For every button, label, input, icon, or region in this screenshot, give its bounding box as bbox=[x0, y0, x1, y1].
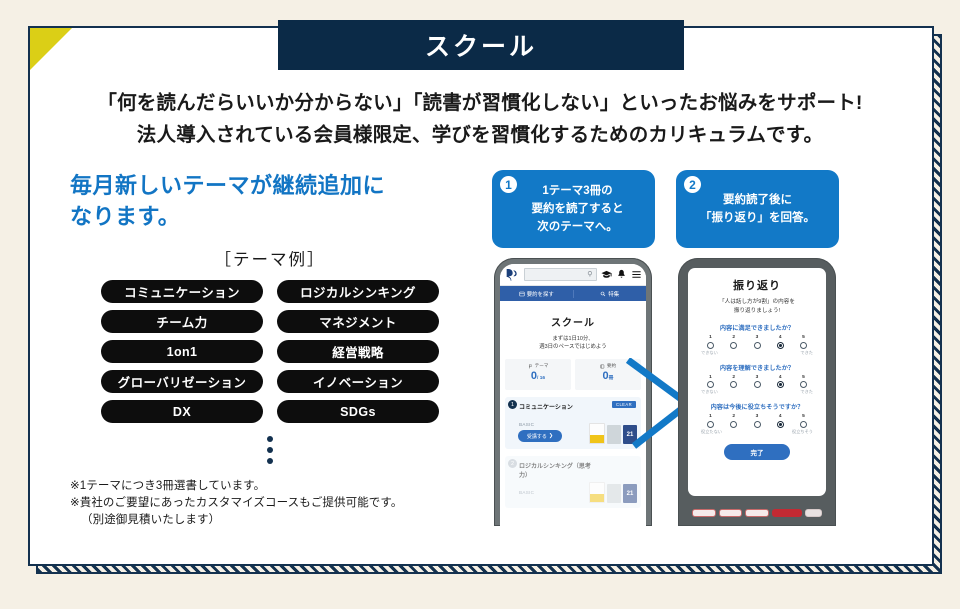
course-number: 2 bbox=[508, 459, 517, 468]
keyboard-key[interactable] bbox=[692, 509, 716, 517]
keyboard-suggestion-bar bbox=[692, 508, 822, 517]
radio-button[interactable] bbox=[707, 421, 714, 428]
survey-subtitle: 「人は話し方が9割」の内容を 振り返りましょう! bbox=[695, 298, 819, 316]
stat-summary-suffix: 冊 bbox=[609, 376, 614, 381]
vertical-ellipsis-icon bbox=[266, 436, 274, 464]
stat-theme-value-row: 0/ 16 bbox=[505, 370, 571, 385]
rating-option[interactable]: 5 bbox=[798, 335, 809, 349]
search-icon bbox=[600, 291, 606, 297]
footnotes: ※1テーマにつき3冊選書しています。 ※貴社のご要望にあったカスタマイズコースも… bbox=[70, 478, 470, 529]
course-name: ロジカルシンキング（思考力） bbox=[519, 463, 591, 480]
book-cover: 21 bbox=[623, 484, 637, 503]
rating-option[interactable]: 5 bbox=[798, 375, 809, 389]
left-column: 毎月新しいテーマが継続追加に なります。 ［テーマ例］ コミュニケーション ロジ… bbox=[70, 170, 470, 529]
radio-button[interactable] bbox=[707, 381, 714, 388]
question-text: 内容を理解できましたか？ bbox=[695, 363, 819, 372]
rating-number: 4 bbox=[775, 414, 786, 419]
radio-button-selected[interactable] bbox=[777, 342, 784, 349]
radio-button[interactable] bbox=[730, 342, 737, 349]
book-cover bbox=[589, 423, 605, 444]
app-page-title: スクール bbox=[500, 314, 646, 329]
callout-bubble-2: 2 要約読了後に 「振り返り」を回答。 bbox=[676, 170, 839, 248]
callout-2-line-1: 要約読了後に bbox=[686, 191, 829, 209]
theme-pill[interactable]: 1on1 bbox=[101, 340, 263, 363]
rating-number: 1 bbox=[705, 335, 716, 340]
scale-end-labels: 役立たない 役立ちそう bbox=[695, 429, 819, 435]
theme-pill[interactable]: SDGs bbox=[277, 400, 439, 423]
rating-number: 4 bbox=[775, 335, 786, 340]
slide-canvas: スクール 「何を読んだらいいか分からない」「読書が習慣化しない」といったお悩みを… bbox=[0, 0, 960, 609]
enroll-button[interactable]: 受講する ❯ bbox=[518, 430, 562, 442]
graduation-cap-icon[interactable] bbox=[601, 269, 612, 280]
rating-number: 5 bbox=[798, 414, 809, 419]
rating-number: 3 bbox=[752, 335, 763, 340]
rating-number: 1 bbox=[705, 414, 716, 419]
phone-mockup-right: 振り返り 「人は話し方が9割」の内容を 振り返りましょう! 内容に満足できました… bbox=[678, 258, 836, 526]
hamburger-menu-icon[interactable] bbox=[631, 269, 642, 280]
theme-pill[interactable]: チーム力 bbox=[101, 310, 263, 333]
book-icon bbox=[519, 291, 525, 297]
radio-button[interactable] bbox=[800, 381, 807, 388]
footnote-3: （別途御見積いたします） bbox=[70, 512, 470, 529]
rating-option[interactable]: 1 bbox=[705, 375, 716, 389]
stat-theme-label: テーマ bbox=[535, 363, 549, 369]
rating-option[interactable]: 3 bbox=[752, 375, 763, 389]
chevron-right-icon: ❯ bbox=[549, 433, 553, 439]
reflection-survey-sheet: 振り返り 「人は話し方が9割」の内容を 振り返りましょう! 内容に満足できました… bbox=[688, 268, 826, 496]
footnote-1: ※1テーマにつき3冊選書しています。 bbox=[70, 478, 470, 495]
theme-pill[interactable]: DX bbox=[101, 400, 263, 423]
scale-low-label: できない bbox=[701, 350, 718, 356]
app-logo-icon bbox=[504, 267, 520, 283]
scale-low-label: 役立たない bbox=[701, 429, 722, 435]
app-subtitle-line-2: 週3日のペースではじめよう bbox=[500, 343, 646, 351]
rating-scale: 1 2 3 4 5 bbox=[695, 414, 819, 428]
radio-button[interactable] bbox=[730, 381, 737, 388]
rating-number: 5 bbox=[798, 335, 809, 340]
rating-number: 3 bbox=[752, 375, 763, 380]
theme-pill[interactable]: 経営戦略 bbox=[277, 340, 439, 363]
scale-high-label: できた bbox=[800, 389, 813, 395]
radio-button[interactable] bbox=[754, 342, 761, 349]
rating-option[interactable]: 5 bbox=[798, 414, 809, 428]
rating-option[interactable]: 4 bbox=[775, 414, 786, 428]
callout-2-line-2: 「振り返り」を回答。 bbox=[686, 209, 829, 227]
enroll-button-label: 受講する bbox=[527, 433, 547, 440]
theme-pill[interactable]: イノベーション bbox=[277, 370, 439, 393]
survey-title: 振り返り bbox=[695, 277, 819, 293]
stat-card-themes: テーマ 0/ 16 bbox=[505, 359, 571, 390]
rating-number: 3 bbox=[752, 414, 763, 419]
scale-high-label: できた bbox=[800, 350, 813, 356]
footnote-2: ※貴社のご要望にあったカスタマイズコースもご提供可能です。 bbox=[70, 495, 470, 512]
course-number: 1 bbox=[508, 400, 517, 409]
rating-option[interactable]: 2 bbox=[728, 375, 739, 389]
callout-2-text: 要約読了後に 「振り返り」を回答。 bbox=[676, 191, 839, 227]
keyboard-key[interactable] bbox=[805, 509, 822, 517]
radio-button[interactable] bbox=[707, 342, 714, 349]
survey-subtitle-line-1: 「人は話し方が9割」の内容を bbox=[695, 298, 819, 307]
lead-copy: 「何を読んだらいいか分からない」「読書が習慣化しない」といったお悩みをサポート!… bbox=[28, 88, 932, 150]
book-cover bbox=[589, 482, 605, 503]
page-title-banner: スクール bbox=[278, 20, 684, 70]
course-name: コミュニケーション bbox=[519, 404, 591, 413]
theme-pill-grid: コミュニケーション ロジカルシンキング チーム力 マネジメント 1on1 経営戦… bbox=[70, 280, 470, 423]
lead-line-2: 法人導入されている会員様限定、学びを習慣化するためのカリキュラムです。 bbox=[28, 120, 932, 150]
callout-1-line-3: 次のテーマへ。 bbox=[508, 218, 647, 236]
rating-number: 2 bbox=[728, 414, 739, 419]
rating-option[interactable]: 2 bbox=[728, 414, 739, 428]
scale-end-labels: できない できた bbox=[695, 350, 819, 356]
section-heading-line-1: 毎月新しいテーマが継続追加に bbox=[70, 170, 470, 201]
rating-scale: 1 2 3 4 5 bbox=[695, 375, 819, 389]
flag-icon bbox=[528, 364, 533, 369]
rating-option[interactable]: 1 bbox=[705, 414, 716, 428]
radio-button-selected[interactable] bbox=[777, 421, 784, 428]
nav-item-search-summaries[interactable]: 要約を探す bbox=[500, 290, 574, 298]
survey-question: 内容に満足できましたか？ 1 2 3 4 5 できない できた bbox=[695, 323, 819, 356]
stat-summary-label: 要約 bbox=[607, 363, 616, 369]
survey-question: 内容は今後に役立ちそうですか？ 1 2 3 4 5 役立たない 役立ちそう bbox=[695, 402, 819, 435]
theme-course-card[interactable]: 2 ロジカルシンキング（思考力） BASIC 21 bbox=[505, 456, 641, 508]
stat-theme-suffix: / 16 bbox=[537, 376, 545, 381]
callout-bubble-1: 1 1テーマ3冊の 要約を読了すると 次のテーマへ。 bbox=[492, 170, 655, 248]
search-icon bbox=[587, 270, 594, 278]
keyboard-key[interactable] bbox=[745, 509, 769, 517]
nav-search-label: 要約を探す bbox=[527, 290, 554, 298]
app-nav-bar: 要約を探す 特集 bbox=[500, 286, 646, 301]
question-text: 内容は今後に役立ちそうですか？ bbox=[695, 402, 819, 411]
survey-question: 内容を理解できましたか？ 1 2 3 4 5 できない できた bbox=[695, 363, 819, 396]
app-subtitle-line-1: まずは1日10分、 bbox=[500, 335, 646, 343]
theme-pill[interactable]: グローバリゼーション bbox=[101, 370, 263, 393]
question-text: 内容に満足できましたか？ bbox=[695, 323, 819, 332]
theme-pill[interactable]: コミュニケーション bbox=[101, 280, 263, 303]
rating-number: 1 bbox=[705, 375, 716, 380]
scale-end-labels: できない できた bbox=[695, 389, 819, 395]
rating-number: 2 bbox=[728, 375, 739, 380]
nav-feature-label: 特集 bbox=[608, 290, 619, 298]
book-cover bbox=[607, 484, 621, 503]
section-heading: 毎月新しいテーマが継続追加に なります。 bbox=[70, 170, 470, 232]
theme-pill[interactable]: マネジメント bbox=[277, 310, 439, 333]
keyboard-key[interactable] bbox=[719, 509, 743, 517]
radio-button[interactable] bbox=[754, 421, 761, 428]
survey-subtitle-line-2: 振り返りましょう! bbox=[695, 307, 819, 316]
theme-example-label: ［テーマ例］ bbox=[70, 246, 470, 270]
rating-option[interactable]: 2 bbox=[728, 335, 739, 349]
page-title: スクール bbox=[425, 27, 537, 63]
scale-high-label: 役立ちそう bbox=[792, 429, 813, 435]
scale-low-label: できない bbox=[701, 389, 718, 395]
submit-button[interactable]: 完了 bbox=[724, 444, 790, 460]
theme-course-card[interactable]: 1 コミュニケーション BASIC 受講する ❯ CLEAR 21 bbox=[505, 397, 641, 449]
app-subtitle: まずは1日10分、 週3日のペースではじめよう bbox=[500, 335, 646, 351]
rating-scale: 1 2 3 4 5 bbox=[695, 335, 819, 349]
theme-pill[interactable]: ロジカルシンキング bbox=[277, 280, 439, 303]
rating-option[interactable]: 1 bbox=[705, 335, 716, 349]
rating-option[interactable]: 3 bbox=[752, 414, 763, 428]
nav-item-feature[interactable]: 特集 bbox=[574, 290, 647, 298]
callout-1-line-2: 要約を読了すると bbox=[508, 200, 647, 218]
stat-theme-label-row: テーマ bbox=[505, 363, 571, 369]
bell-icon[interactable] bbox=[616, 269, 627, 280]
rating-option[interactable]: 3 bbox=[752, 335, 763, 349]
keyboard-key-active[interactable] bbox=[772, 509, 802, 517]
search-input[interactable] bbox=[524, 268, 597, 281]
yellow-corner-triangle bbox=[30, 28, 72, 70]
rating-number: 4 bbox=[775, 375, 786, 380]
radio-button-selected[interactable] bbox=[777, 381, 784, 388]
radio-button[interactable] bbox=[800, 342, 807, 349]
section-heading-line-2: なります。 bbox=[70, 201, 470, 232]
rating-option[interactable]: 4 bbox=[775, 335, 786, 349]
book-stack-icon bbox=[600, 364, 605, 369]
app-header bbox=[500, 264, 646, 286]
callout-1-text: 1テーマ3冊の 要約を読了すると 次のテーマへ。 bbox=[492, 182, 655, 236]
rating-option[interactable]: 4 bbox=[775, 375, 786, 389]
course-level: BASIC bbox=[519, 490, 534, 495]
rating-number: 2 bbox=[728, 335, 739, 340]
lead-line-1: 「何を読んだらいいか分からない」「読書が習慣化しない」といったお悩みをサポート! bbox=[28, 88, 932, 118]
radio-button[interactable] bbox=[730, 421, 737, 428]
rating-number: 5 bbox=[798, 375, 809, 380]
radio-button[interactable] bbox=[800, 421, 807, 428]
course-level: BASIC bbox=[519, 422, 534, 427]
book-cover bbox=[607, 425, 621, 444]
book-thumbnails: 21 bbox=[589, 482, 637, 503]
callout-1-line-1: 1テーマ3冊の bbox=[508, 182, 647, 200]
radio-button[interactable] bbox=[754, 381, 761, 388]
